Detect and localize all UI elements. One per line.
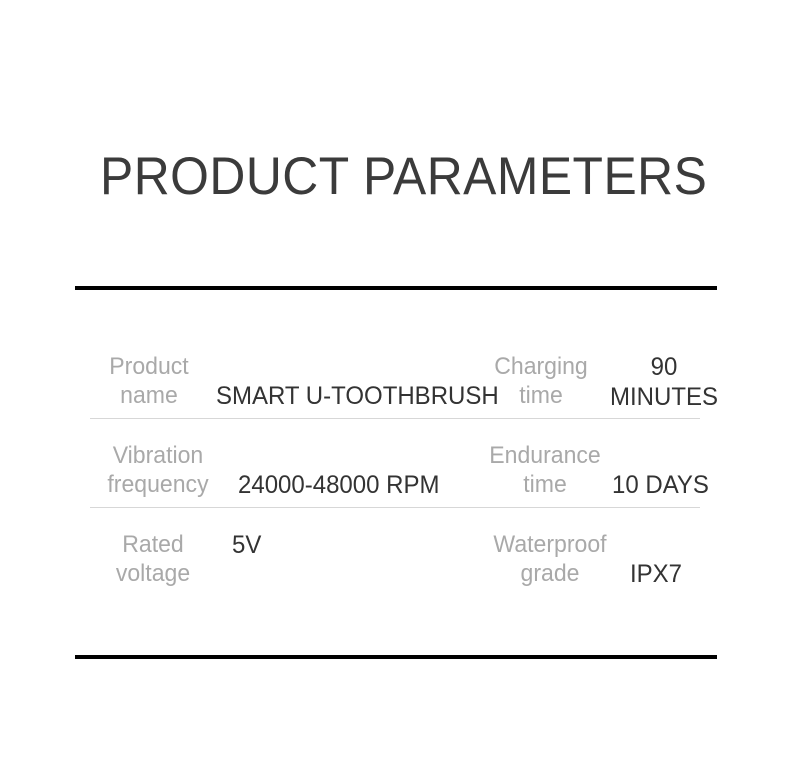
table-row: Rated voltage 5V Waterproof grade IPX7	[88, 508, 706, 597]
spec-label-vibration-frequency: Vibration frequency	[97, 419, 220, 499]
spec-cell-waterproof-grade: Waterproof grade IPX7	[418, 508, 706, 589]
spec-value-product-name: SMART U-TOOTHBRUSH	[216, 330, 499, 411]
top-divider-rule	[75, 286, 717, 290]
table-row: Vibration frequency 24000-48000 RPM Endu…	[88, 419, 706, 508]
spec-label-charging-time: Charging time	[488, 330, 594, 410]
page-title: PRODUCT PARAMETERS	[100, 148, 664, 206]
product-parameters-page: PRODUCT PARAMETERS Product name SMART U-…	[0, 0, 790, 761]
spec-label-product-name: Product name	[96, 330, 202, 410]
spec-value-rated-voltage: 5V	[232, 508, 261, 560]
spec-value-vibration-frequency: 24000-48000 RPM	[238, 419, 439, 500]
spec-cell-endurance-time: Endurance time 10 DAYS	[418, 419, 706, 500]
spec-value-charging-time: 90 MINUTES	[606, 330, 721, 412]
spec-label-endurance-time: Endurance time	[488, 419, 601, 499]
spec-value-endurance-time: 10 DAYS	[612, 419, 709, 500]
spec-cell-vibration-frequency: Vibration frequency 24000-48000 RPM	[88, 419, 418, 500]
table-row: Product name SMART U-TOOTHBRUSH Charging…	[88, 330, 706, 419]
specifications-table: Product name SMART U-TOOTHBRUSH Charging…	[88, 330, 706, 597]
spec-value-waterproof-grade: IPX7	[630, 508, 682, 589]
bottom-divider-rule	[75, 655, 717, 659]
spec-label-waterproof-grade: Waterproof grade	[489, 508, 612, 588]
spec-label-rated-voltage: Rated voltage	[96, 508, 209, 588]
spec-cell-rated-voltage: Rated voltage 5V	[88, 508, 418, 588]
spec-cell-product-name: Product name SMART U-TOOTHBRUSH	[88, 330, 418, 411]
